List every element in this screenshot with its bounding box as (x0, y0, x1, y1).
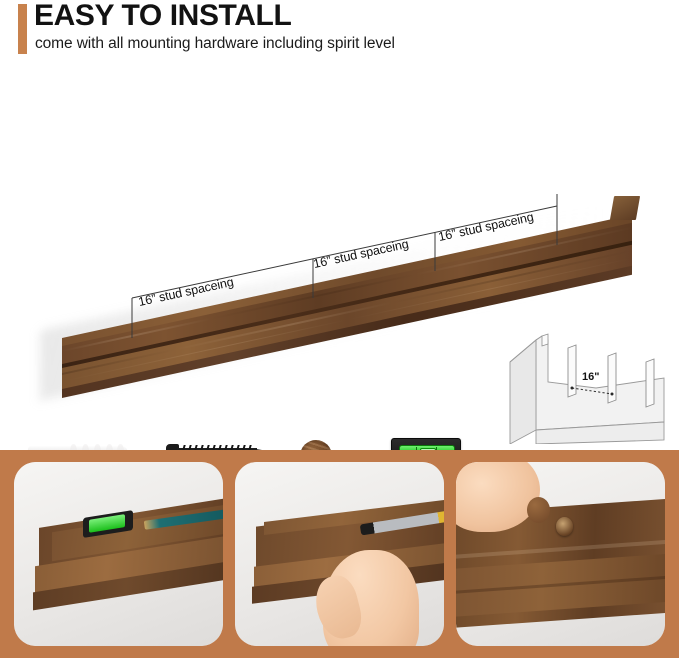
page-title: EASY TO INSTALL (34, 0, 291, 33)
hardware-item-level: Level x1 (356, 438, 496, 450)
step-panel-level-and-mark (14, 462, 223, 646)
step-panel-apply-hole-stickers (456, 462, 665, 646)
screw-hole (556, 517, 573, 535)
spirit-level-icon (391, 438, 461, 450)
header: EASY TO INSTALL come with all mounting h… (0, 0, 679, 70)
hero-stage: 16” stud spaceing 16” stud spaceing 16” … (0, 70, 679, 450)
wall-stud-diagram: 16" (496, 322, 672, 444)
page-subtitle: come with all mounting hardware includin… (35, 35, 395, 53)
hardware-item-drywall-anchors: drywall anchors x9 (8, 442, 148, 450)
stud-dimension-text: 16" (582, 371, 599, 383)
step-panel-drive-screws (235, 462, 444, 646)
hardware-list: drywall anchors x9 Screws x9 Hole sticke… (0, 442, 679, 450)
shelf-end-cap-right (610, 196, 640, 220)
hole-sticker-icon (300, 440, 332, 450)
accent-bar (18, 4, 27, 54)
installation-steps (0, 450, 679, 658)
drywall-anchor-icon (28, 442, 128, 450)
hole-sticker-photo-icon (527, 497, 550, 523)
